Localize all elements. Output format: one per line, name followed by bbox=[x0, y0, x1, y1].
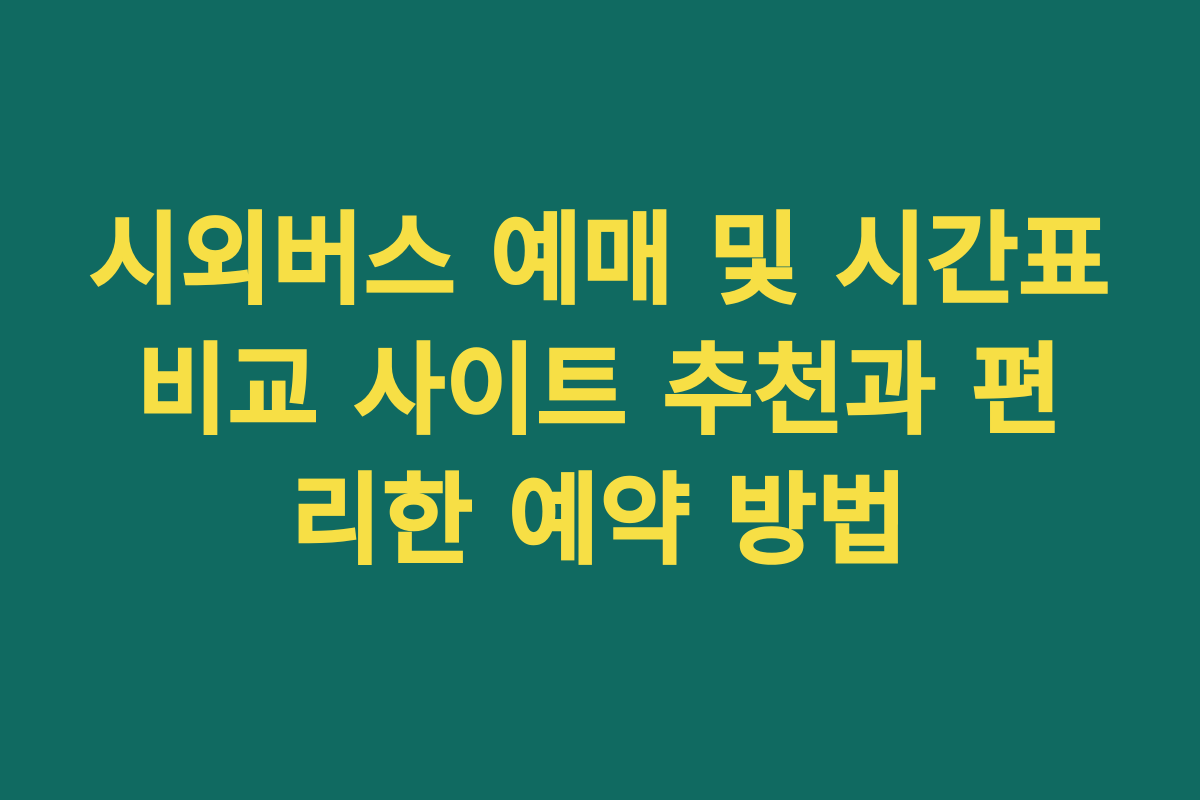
thumbnail-card: 시외버스 예매 및 시간표 비교 사이트 추천과 편 리한 예약 방법 bbox=[0, 0, 1200, 800]
title-line-2: 비교 사이트 추천과 편 bbox=[50, 326, 1150, 456]
page-title: 시외버스 예매 및 시간표 비교 사이트 추천과 편 리한 예약 방법 bbox=[50, 196, 1150, 586]
title-line-3: 리한 예약 방법 bbox=[50, 456, 1150, 586]
title-line-1: 시외버스 예매 및 시간표 bbox=[50, 196, 1150, 326]
